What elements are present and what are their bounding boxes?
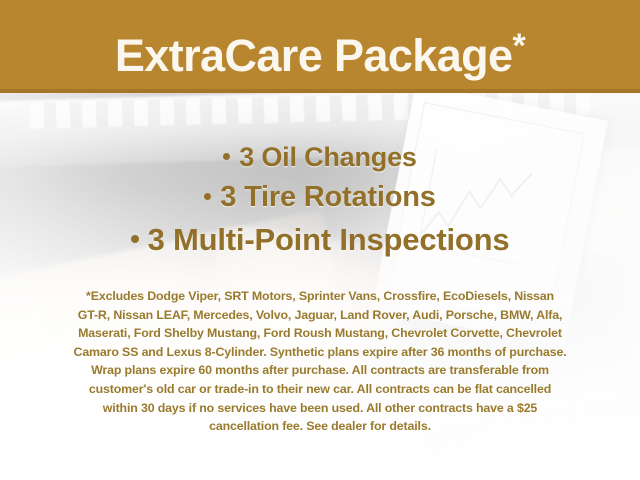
- disclaimer-text: *Excludes Dodge Viper, SRT Motors, Sprin…: [28, 287, 612, 436]
- page-title-text: ExtraCare Package: [115, 30, 513, 81]
- feature-list: 3 Oil Changes 3 Tire Rotations 3 Multi-P…: [0, 138, 640, 261]
- disclaimer-line: cancellation fee. See dealer for details…: [28, 417, 612, 436]
- list-item-label: 3 Multi-Point Inspections: [148, 222, 510, 257]
- disclaimer-line: Maserati, Ford Shelby Mustang, Ford Rous…: [28, 324, 612, 343]
- page-title-asterisk: *: [512, 27, 525, 65]
- list-item: 3 Multi-Point Inspections: [0, 218, 640, 261]
- list-item-label: 3 Oil Changes: [239, 142, 416, 172]
- disclaimer-line: Camaro SS and Lexus 8-Cylinder. Syntheti…: [28, 343, 612, 362]
- list-item-label: 3 Tire Rotations: [220, 181, 435, 213]
- list-item: 3 Tire Rotations: [0, 177, 640, 218]
- list-item: 3 Oil Changes: [0, 138, 640, 177]
- extracare-package-banner: ExtraCare Package* 3 Oil Changes 3 Tire …: [0, 0, 640, 480]
- header-bar: ExtraCare Package*: [0, 0, 640, 93]
- bullet-dot-icon: [131, 235, 139, 243]
- page-title: ExtraCare Package*: [0, 19, 640, 83]
- disclaimer-line: within 30 days if no services have been …: [28, 399, 612, 418]
- disclaimer-line: GT-R, Nissan LEAF, Mercedes, Volvo, Jagu…: [28, 306, 612, 325]
- disclaimer-line: customer's old car or trade-in to their …: [28, 380, 612, 399]
- bullet-dot-icon: [204, 193, 211, 200]
- disclaimer-line: *Excludes Dodge Viper, SRT Motors, Sprin…: [28, 287, 612, 306]
- bullet-dot-icon: [223, 153, 230, 160]
- disclaimer-line: Wrap plans expire 60 months after purcha…: [28, 361, 612, 380]
